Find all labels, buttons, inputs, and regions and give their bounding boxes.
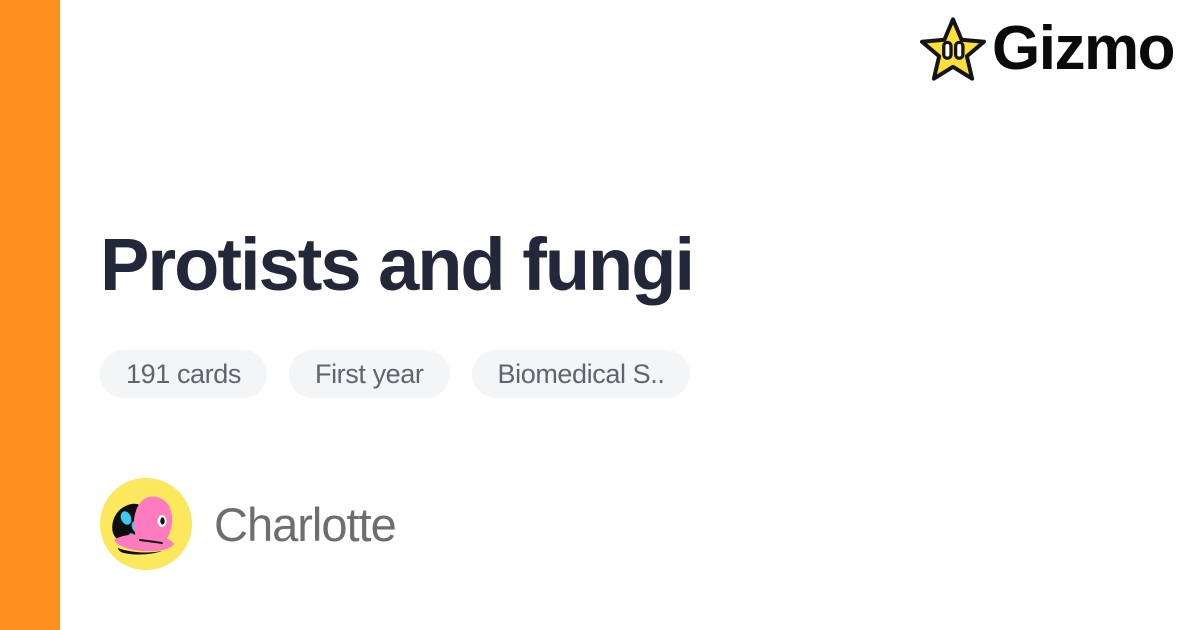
share-card: Gizmo Protists and fungi 191 cards First… bbox=[0, 0, 1200, 630]
page-title: Protists and fungi bbox=[100, 226, 1160, 304]
deck-info: Protists and fungi 191 cards First year … bbox=[100, 226, 1160, 570]
avatar bbox=[100, 478, 192, 570]
brand-name: Gizmo bbox=[992, 18, 1174, 80]
deck-meta-pills: 191 cards First year Biomedical S.. bbox=[100, 350, 1160, 398]
brand-logo[interactable]: Gizmo bbox=[920, 16, 1174, 82]
subject-pill[interactable]: Biomedical S.. bbox=[472, 350, 691, 398]
author-row[interactable]: Charlotte bbox=[100, 478, 1160, 570]
year-pill[interactable]: First year bbox=[289, 350, 450, 398]
star-icon bbox=[920, 16, 986, 82]
author-name: Charlotte bbox=[214, 501, 396, 548]
left-accent-bar bbox=[0, 0, 60, 630]
card-count-pill[interactable]: 191 cards bbox=[100, 350, 267, 398]
whale-avatar-icon bbox=[100, 478, 192, 570]
